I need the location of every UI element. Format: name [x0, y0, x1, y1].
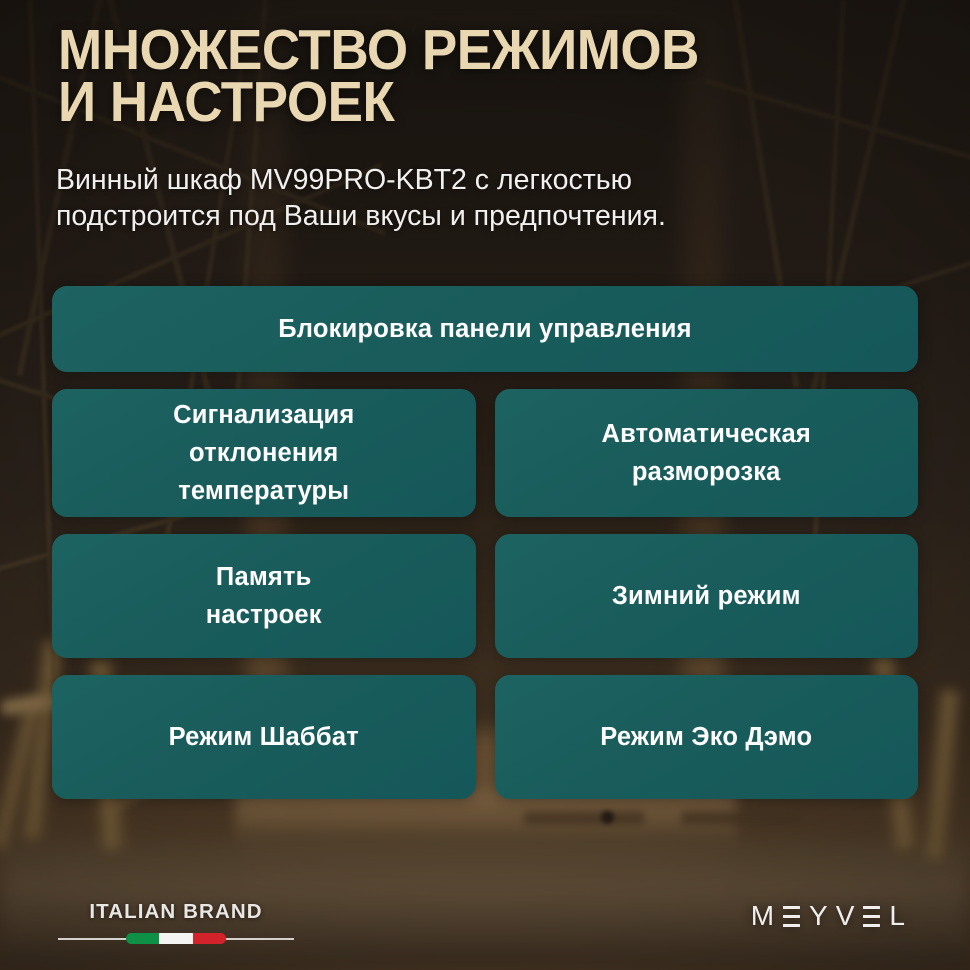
flag-stripe-green [126, 933, 159, 944]
italian-brand-label: ITALIAN BRAND [56, 900, 296, 924]
logo-letter-e2-icon [863, 906, 880, 927]
page-subtitle: Винный шкаф MV99PRO-KBT2 с легкостью под… [56, 162, 886, 234]
feature-card-winter-mode[interactable]: Зимний режим [495, 534, 919, 658]
italian-brand-badge: ITALIAN BRAND [56, 900, 296, 944]
logo-letter-l: L [889, 902, 908, 930]
feature-row-4: Режим Шаббат Режим Эко Дэмо [52, 675, 918, 799]
flag-stripe-white [159, 933, 192, 944]
feature-card-grid: Блокировка панели управления Сигнализаци… [52, 286, 918, 816]
italian-flag-icon [126, 933, 226, 944]
logo-letter-y: Y [809, 902, 831, 930]
poster-content: МНОЖЕСТВО РЕЖИМОВ И НАСТРОЕК Винный шкаф… [0, 0, 970, 970]
feature-row-3: Память настроек Зимний режим [52, 534, 918, 658]
flag-rule-left [58, 938, 126, 940]
feature-card-control-panel-lock[interactable]: Блокировка панели управления [52, 286, 918, 372]
feature-card-temperature-alarm[interactable]: Сигнализация отклонения температуры [52, 389, 476, 517]
italian-flag-row [56, 933, 296, 944]
feature-row-2: Сигнализация отклонения температуры Авто… [52, 389, 918, 517]
flag-rule-right [226, 938, 294, 940]
logo-letter-v: V [836, 902, 858, 930]
feature-row-1: Блокировка панели управления [52, 286, 918, 372]
feature-card-sabbath-mode[interactable]: Режим Шаббат [52, 675, 476, 799]
logo-letter-e-icon [783, 906, 800, 927]
feature-card-settings-memory[interactable]: Память настроек [52, 534, 476, 658]
feature-card-eco-demo-mode[interactable]: Режим Эко Дэмо [495, 675, 919, 799]
promo-poster: МНОЖЕСТВО РЕЖИМОВ И НАСТРОЕК Винный шкаф… [0, 0, 970, 970]
feature-card-auto-defrost[interactable]: Автоматическая разморозка [495, 389, 919, 517]
page-title: МНОЖЕСТВО РЕЖИМОВ И НАСТРОЕК [58, 24, 858, 128]
logo-letter-m: M [751, 902, 777, 930]
meyvel-logo: M Y V L [751, 902, 908, 930]
poster-footer: ITALIAN BRAND M Y V L [0, 886, 970, 970]
flag-stripe-red [193, 933, 226, 944]
